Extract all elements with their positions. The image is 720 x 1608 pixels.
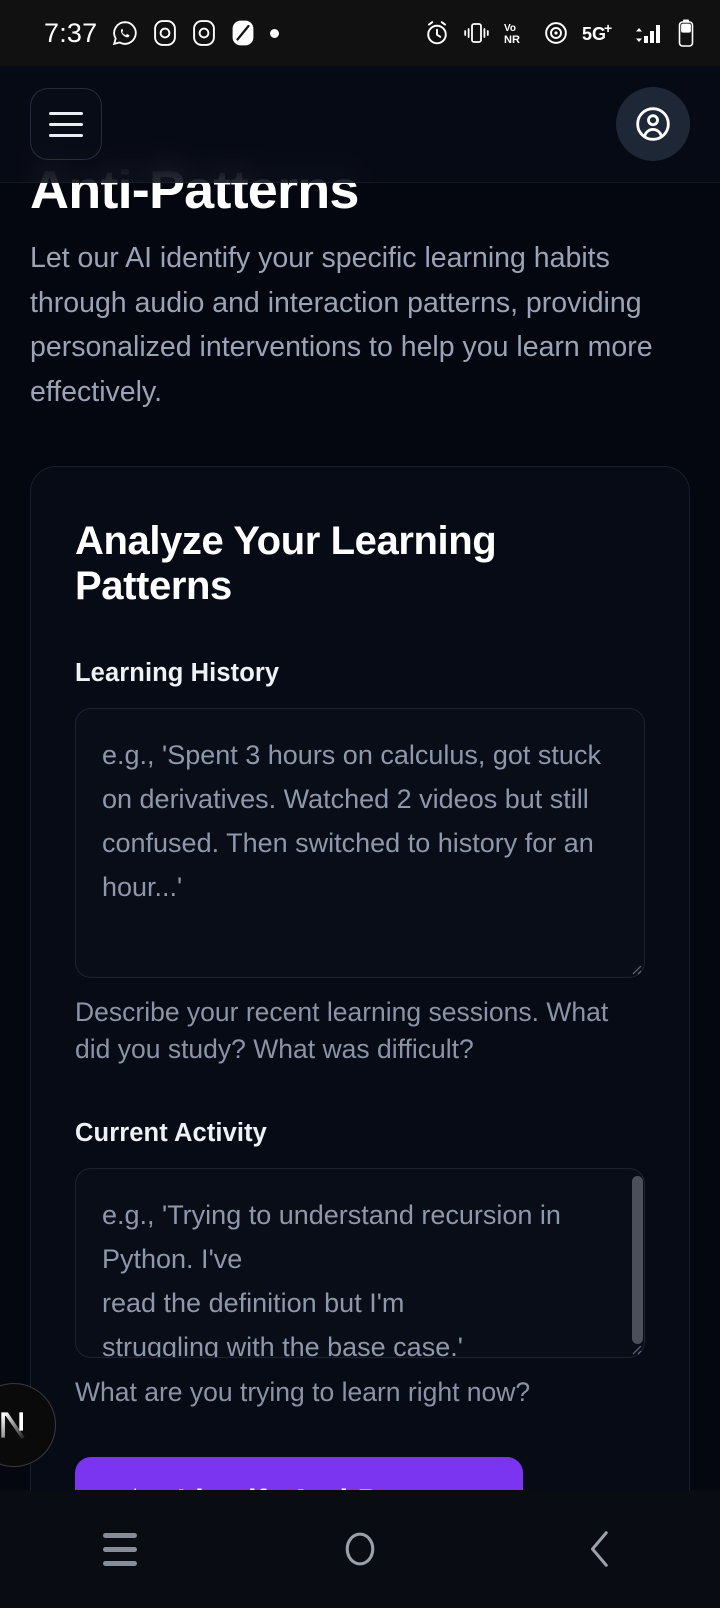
nextjs-logo-icon bbox=[0, 1399, 40, 1451]
app-header bbox=[0, 66, 720, 183]
whatsapp-icon bbox=[112, 20, 138, 46]
back-button[interactable] bbox=[525, 1499, 675, 1599]
textarea-wrapper bbox=[75, 708, 645, 978]
volte-nr-icon: Vo NR bbox=[503, 20, 530, 46]
field-hint: What are you trying to learn right now? bbox=[75, 1374, 645, 1412]
recents-button[interactable] bbox=[45, 1499, 195, 1599]
field-label: Learning History bbox=[75, 659, 645, 688]
status-bar-right: Vo NR 5G + bbox=[424, 19, 694, 47]
home-button[interactable] bbox=[285, 1499, 435, 1599]
page-content: Anti-Patterns Let our AI identify your s… bbox=[0, 66, 720, 1490]
chevron-left-icon bbox=[584, 1529, 616, 1569]
vibrate-icon bbox=[463, 21, 490, 45]
hamburger-icon-line bbox=[49, 134, 83, 137]
learning-history-input[interactable] bbox=[75, 708, 645, 978]
android-nav-bar bbox=[0, 1490, 720, 1608]
recents-icon-line bbox=[103, 1561, 137, 1566]
alarm-icon bbox=[424, 20, 450, 46]
svg-text:+: + bbox=[604, 20, 612, 36]
avatar-button[interactable] bbox=[616, 87, 690, 161]
recents-icon-line bbox=[103, 1547, 137, 1552]
user-circle-icon bbox=[633, 104, 673, 144]
svg-text:NR: NR bbox=[504, 34, 520, 46]
hamburger-icon-line bbox=[49, 112, 83, 115]
dot-indicator bbox=[270, 29, 279, 38]
field-learning-history: Learning History Describe your recent le… bbox=[75, 659, 645, 1069]
status-bar-clock: 7:37 bbox=[44, 18, 97, 49]
status-bar-left: 7:37 bbox=[44, 18, 279, 49]
status-bar: 7:37 bbox=[0, 0, 720, 66]
hamburger-icon-line bbox=[49, 123, 83, 126]
recents-icon-line bbox=[103, 1533, 137, 1538]
svg-text:5G: 5G bbox=[582, 24, 606, 44]
menu-button[interactable] bbox=[30, 88, 102, 160]
hotspot-icon bbox=[543, 20, 569, 46]
analyze-card: Analyze Your Learning Patterns Learning … bbox=[30, 466, 690, 1592]
instagram-icon bbox=[192, 20, 216, 46]
field-label: Current Activity bbox=[75, 1119, 645, 1148]
field-current-activity: Current Activity What are you trying to … bbox=[75, 1119, 645, 1412]
signal-5g-plus-icon: 5G + bbox=[582, 20, 622, 46]
signal-bars-icon bbox=[635, 20, 665, 46]
svg-text:Vo: Vo bbox=[504, 23, 516, 34]
current-activity-input[interactable] bbox=[75, 1168, 645, 1358]
textarea-scrollbar[interactable] bbox=[632, 1176, 643, 1344]
field-hint: Describe your recent learning sessions. … bbox=[75, 994, 645, 1069]
app-icon bbox=[231, 20, 255, 46]
battery-icon bbox=[678, 19, 694, 47]
instagram-icon bbox=[153, 20, 177, 46]
home-circle-icon bbox=[343, 1529, 377, 1569]
phone-screen: 7:37 bbox=[0, 0, 720, 1608]
card-title: Analyze Your Learning Patterns bbox=[75, 519, 645, 609]
page-description: Let our AI identify your specific learni… bbox=[30, 236, 690, 414]
textarea-wrapper bbox=[75, 1168, 645, 1358]
